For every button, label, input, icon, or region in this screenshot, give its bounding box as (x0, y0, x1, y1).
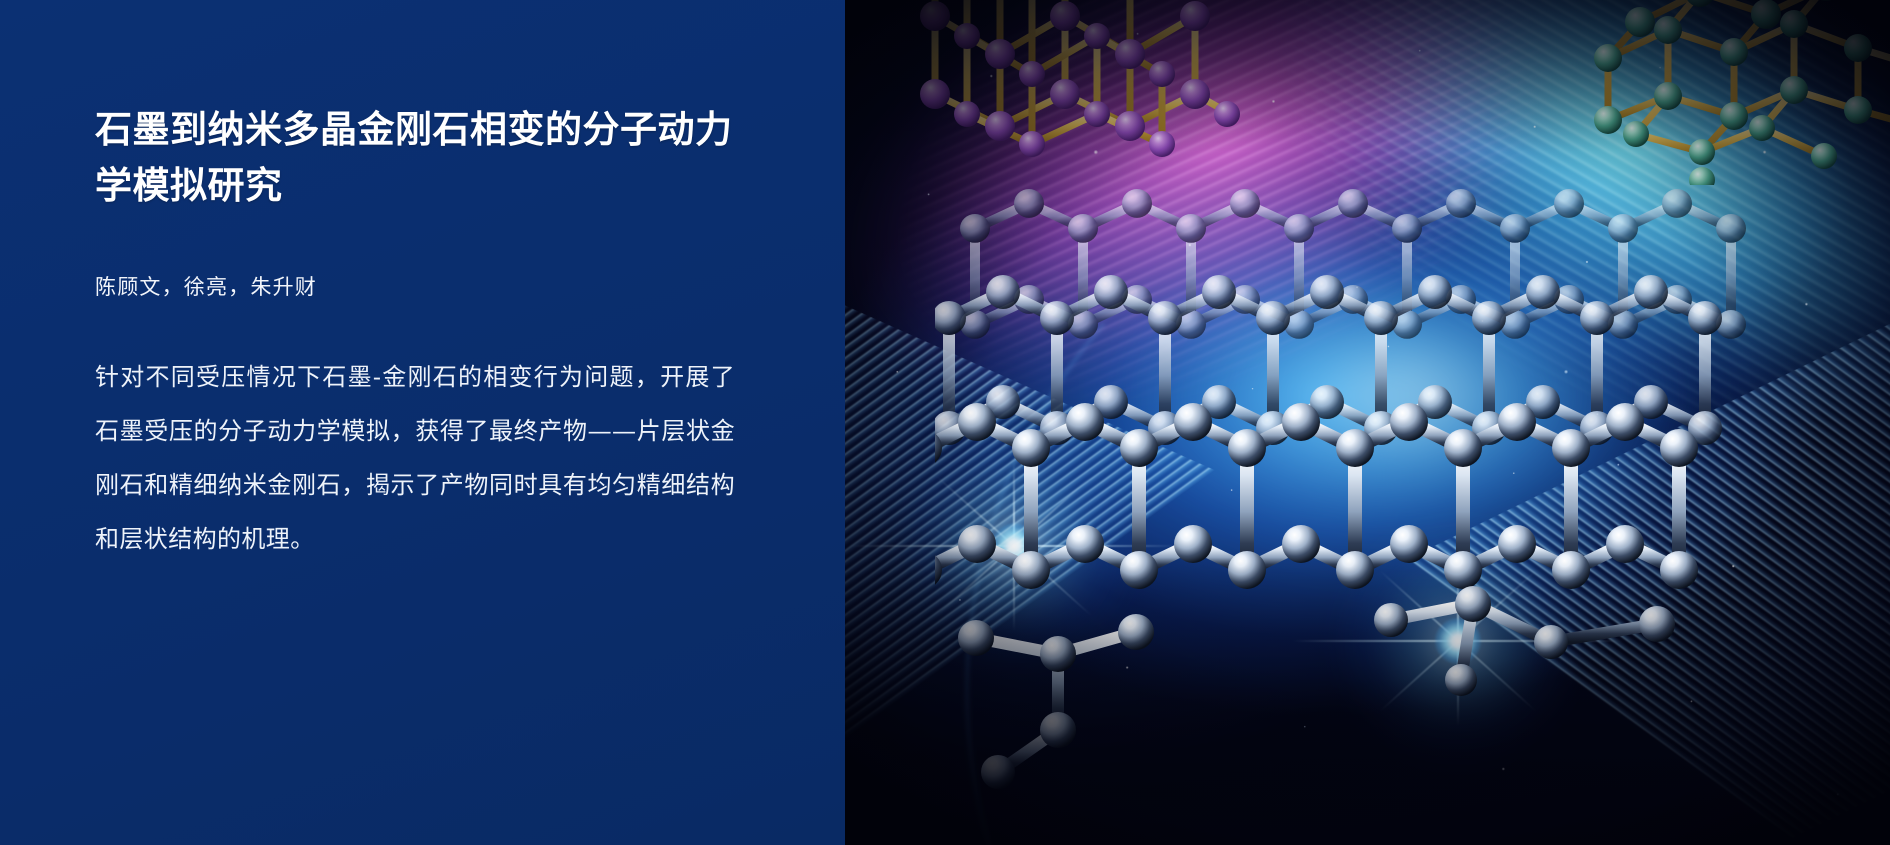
text-content-block: 石墨到纳米多晶金刚石相变的分子动力学模拟研究 陈顾文，徐亮，朱升财 针对不同受压… (95, 0, 755, 566)
text-panel: 石墨到纳米多晶金刚石相变的分子动力学模拟研究 陈顾文，徐亮，朱升财 针对不同受压… (0, 0, 845, 845)
artwork-panel (845, 0, 1890, 845)
page-title: 石墨到纳米多晶金刚石相变的分子动力学模拟研究 (95, 102, 755, 214)
authors-line: 陈顾文，徐亮，朱升财 (95, 271, 755, 301)
vignette-overlay (845, 0, 1890, 845)
presentation-slide: 石墨到纳米多晶金刚石相变的分子动力学模拟研究 陈顾文，徐亮，朱升财 针对不同受压… (0, 0, 1890, 845)
abstract-text: 针对不同受压情况下石墨-金刚石的相变行为问题，开展了石墨受压的分子动力学模拟，获… (95, 350, 735, 566)
